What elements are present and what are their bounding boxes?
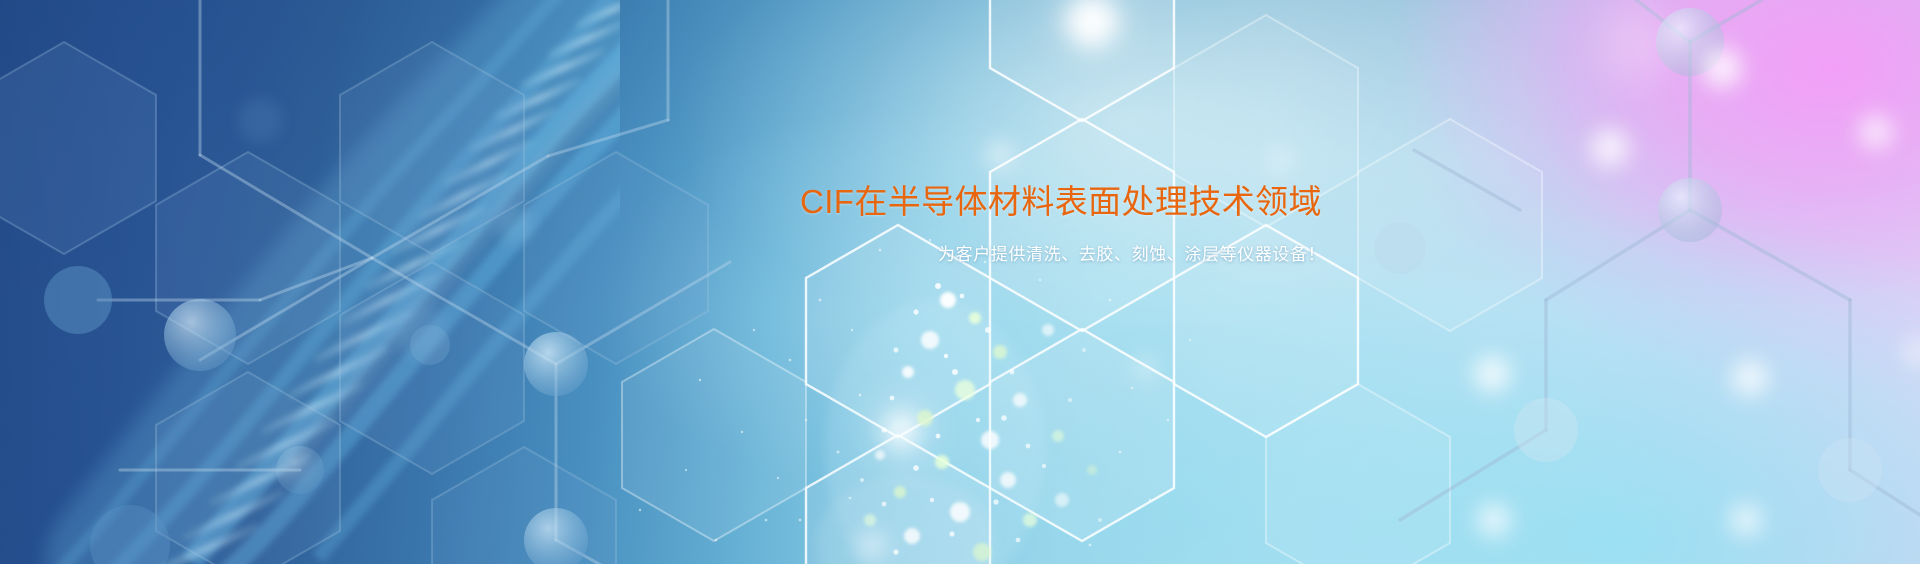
page-title: CIF在半导体材料表面处理技术领域	[800, 182, 1360, 222]
background-base-gradient	[0, 0, 1920, 564]
hero-banner: CIF在半导体材料表面处理技术领域 为客户提供清洗、去胶、刻蚀、涂层等仪器设备！	[0, 0, 1920, 564]
background-pink-bloom	[0, 0, 1920, 564]
hero-text-block: CIF在半导体材料表面处理技术领域 为客户提供清洗、去胶、刻蚀、涂层等仪器设备！	[800, 182, 1360, 267]
background-central-glow	[0, 0, 1920, 564]
particle-burst-graphic	[0, 0, 1920, 564]
dna-helix-graphic	[0, 0, 1920, 564]
background-left-vignette	[0, 0, 1920, 564]
hexagon-lattice-light	[0, 0, 1920, 564]
hexagon-lattice-dark	[0, 0, 1920, 564]
background-cyan-bloom	[0, 0, 1920, 564]
page-subtitle: 为客户提供清洗、去胶、刻蚀、涂层等仪器设备！	[938, 243, 1360, 267]
background-vertical-tint	[0, 0, 1920, 564]
